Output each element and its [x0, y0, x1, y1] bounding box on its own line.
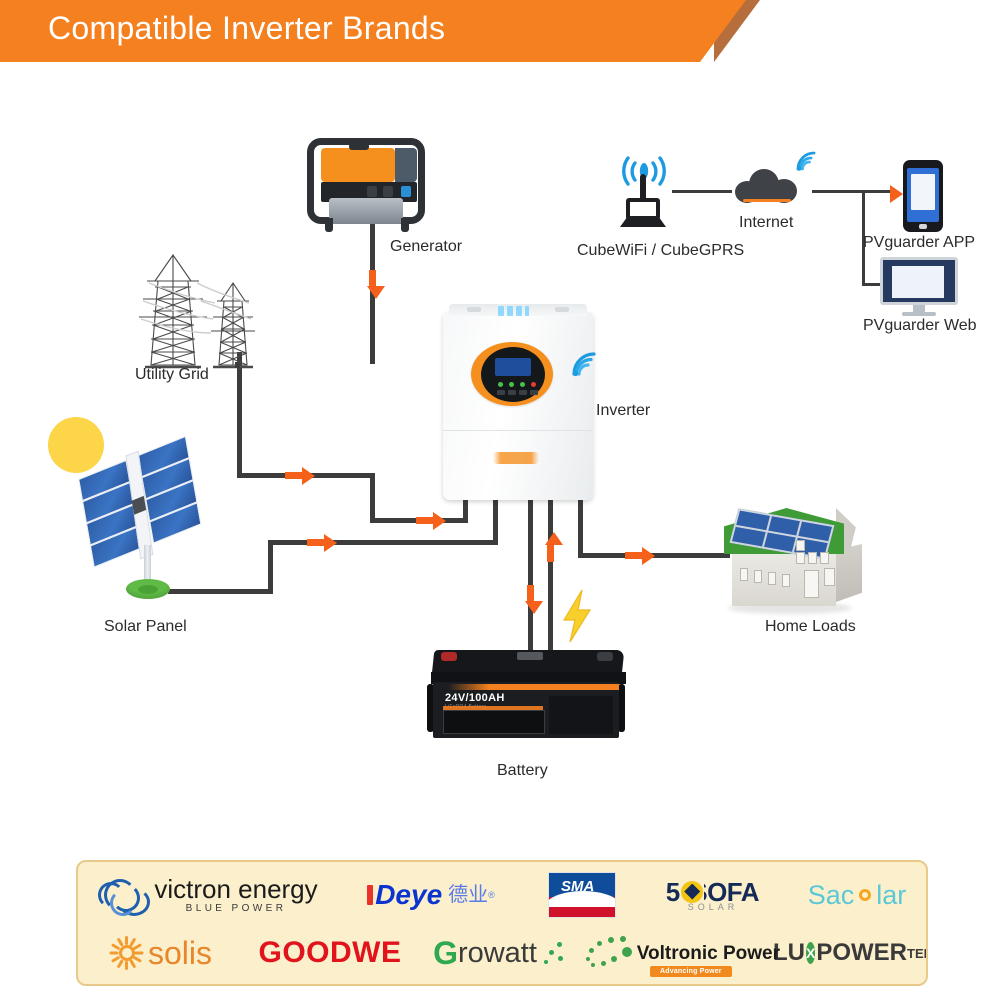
- house-window: [820, 552, 829, 564]
- growatt-dots-icon: [541, 940, 567, 966]
- deye-registered-icon: ®: [488, 891, 495, 900]
- sma-mark-icon: SMA: [548, 872, 616, 918]
- house-window: [782, 574, 790, 587]
- generator-leg-left: [325, 218, 333, 232]
- wire-internet-to-branch: [812, 190, 865, 193]
- battery-terminal-negative: [441, 652, 457, 661]
- victron-mark-icon: [96, 878, 148, 912]
- generator-illustration: [305, 130, 430, 235]
- inverter-button[interactable]: [497, 390, 505, 395]
- home-loads-illustration: [718, 502, 868, 617]
- brand-logo-goodwe: GOODWE: [244, 928, 416, 978]
- luxpower-wordmark-part2: POWER: [816, 941, 907, 965]
- sacolar-wordmark-part2: lar: [876, 882, 906, 909]
- inverter-lcd: [495, 358, 531, 376]
- generator-socket-blue: [401, 186, 411, 197]
- lightning-bolt-icon: [560, 590, 594, 642]
- sacolar-wordmark-part1: Sac: [808, 882, 855, 909]
- brand-logo-sacolar: Sac lar: [788, 870, 926, 920]
- inverter-mount-tab-left: [467, 307, 481, 312]
- wire-inverter-to-battery-b: [548, 500, 553, 660]
- battery-terminal-positive: [597, 652, 613, 661]
- label-pvguarder-web: PVguarder Web: [863, 317, 977, 335]
- voltronic-dots-icon: [584, 936, 633, 970]
- sma-wordmark: SMA: [561, 878, 594, 895]
- arrow-grid-stem: [285, 472, 303, 479]
- inverter-button[interactable]: [519, 390, 527, 395]
- battery-warning-panel: [549, 696, 613, 734]
- house-window: [796, 552, 805, 564]
- pvguarder-web-illustration: [880, 257, 958, 319]
- deye-wordmark-cn: 德业: [448, 885, 488, 905]
- solis-sun-icon: [110, 936, 144, 970]
- wire-bus-to-inverter: [370, 473, 375, 522]
- victron-tagline: BLUE POWER: [154, 904, 317, 914]
- inverter-lcd-seg: [525, 306, 529, 316]
- house-window: [808, 552, 817, 564]
- battery-spec-label: 24V/100AH: [445, 692, 505, 704]
- brand-logo-growatt: G rowatt: [416, 928, 584, 978]
- generator-cap: [349, 143, 369, 150]
- inverter-led-red: [531, 382, 536, 387]
- solis-wordmark: solis: [148, 937, 212, 969]
- inverter-body: [443, 312, 593, 500]
- brand-row-1: victron energy BLUE POWER Deye 德业 ® SMA …: [78, 870, 926, 920]
- wire-inverter-to-battery-a: [528, 500, 533, 660]
- sacolar-sun-icon: [855, 885, 875, 905]
- arrow-grid-right: [302, 467, 315, 485]
- house-door: [804, 570, 819, 598]
- battery-handle: [517, 652, 543, 660]
- arrow-battery-charge-stem: [527, 585, 534, 602]
- solar-panel-illustration: [48, 417, 218, 597]
- sofar-globe-icon: [681, 881, 703, 903]
- growatt-wordmark: rowatt: [458, 939, 537, 968]
- battery-stripe: [433, 684, 619, 690]
- generator-socket-dark: [383, 186, 393, 197]
- wifi-icon-internet: [795, 150, 819, 172]
- sofar-wordmark-part1: 5: [666, 879, 680, 905]
- house-pv-gridline: [736, 525, 828, 543]
- brand-logo-solis: solis: [78, 928, 244, 978]
- wire-solar-up: [268, 540, 273, 594]
- generator-tank-dark: [395, 148, 417, 182]
- brand-logo-victron: victron energy BLUE POWER: [78, 870, 336, 920]
- header-banner: Compatible Inverter Brands: [0, 0, 760, 62]
- brand-logo-sma: SMA: [526, 870, 638, 920]
- inverter-led-green-2: [509, 382, 514, 387]
- solis-sun-core: [119, 945, 135, 961]
- wire-cubewifi-to-internet: [672, 190, 732, 193]
- inverter-seam: [443, 430, 593, 431]
- phone-app-card: [911, 174, 935, 210]
- battery-illustration: 24V/100AH LiFePO4 Battery: [425, 650, 630, 740]
- label-generator: Generator: [390, 238, 462, 256]
- house-window: [768, 572, 776, 585]
- luxpower-superscript: TEK: [907, 947, 928, 960]
- inverter-mount-tab-right: [555, 307, 569, 312]
- label-home-loads: Home Loads: [765, 618, 856, 636]
- sofar-wordmark: SOFAR: [704, 879, 760, 905]
- brand-logo-deye: Deye 德业 ®: [336, 870, 526, 920]
- house-window: [740, 568, 748, 581]
- brand-logo-voltronic: Voltronic Power Advancing Power: [584, 928, 780, 978]
- arrow-generator-down: [367, 286, 385, 299]
- house-window: [824, 568, 835, 586]
- inverter-brand-mark: [492, 452, 540, 464]
- wifi-icon-inverter: [570, 350, 600, 378]
- goodwe-wordmark: GOODWE: [259, 938, 402, 968]
- battery-info-panel: [443, 710, 545, 734]
- wire-solar-to-inverter: [268, 540, 498, 545]
- arrow-bus-right: [433, 512, 446, 530]
- arrow-battery-discharge: [545, 532, 563, 545]
- inverter-button[interactable]: [530, 390, 538, 395]
- generator-tank: [321, 148, 395, 182]
- growatt-mark-icon: G: [433, 937, 458, 969]
- arrow-home-right: [642, 547, 655, 565]
- label-cube-wifi: CubeWiFi / CubeGPRS: [577, 242, 744, 260]
- label-battery: Battery: [497, 762, 548, 780]
- cubewifi-device-illustration: [612, 154, 676, 234]
- wire-inverter-lead-1: [463, 500, 468, 520]
- victron-wordmark: victron energy: [154, 876, 317, 902]
- pv-base-inner: [138, 585, 158, 594]
- inverter-lcd-seg: [516, 306, 522, 316]
- system-diagram: Generator U: [0, 62, 1000, 852]
- arrow-solar-stem: [307, 539, 325, 546]
- label-internet: Internet: [739, 214, 793, 232]
- pvguarder-app-illustration: [903, 160, 943, 232]
- arrow-bus-stem: [416, 517, 434, 524]
- cubewifi-base: [620, 218, 666, 227]
- sofar-tagline: SOLAR: [688, 903, 739, 912]
- qr-code-icon: [630, 202, 656, 216]
- inverter-led-green-3: [520, 382, 525, 387]
- page-title: Compatible Inverter Brands: [48, 10, 445, 47]
- arrow-battery-discharge-stem: [547, 545, 554, 562]
- label-inverter: Inverter: [596, 402, 650, 420]
- label-pvguarder-app: PVguarder APP: [863, 234, 975, 252]
- generator-leg-right: [401, 218, 409, 232]
- voltronic-wordmark: Voltronic Power: [637, 944, 780, 963]
- compatible-brands-panel: victron energy BLUE POWER Deye 德业 ® SMA …: [76, 860, 928, 986]
- inverter-button[interactable]: [508, 390, 516, 395]
- internet-cloud-illustration: [735, 167, 799, 209]
- label-utility-grid: Utility Grid: [135, 366, 209, 384]
- deye-mark-icon: [367, 885, 373, 905]
- inverter-lcd-seg: [507, 306, 513, 316]
- generator-socket-dark-2: [367, 186, 377, 197]
- wire-grid-riser: [235, 362, 240, 368]
- arrow-home-stem: [625, 552, 643, 559]
- battery-foot-right: [618, 684, 625, 732]
- arrow-to-app: [890, 185, 903, 203]
- brand-logo-sofar: 5 SOFAR SOLAR: [638, 870, 788, 920]
- arrow-solar-right: [324, 534, 337, 552]
- phone-home-button: [919, 224, 927, 229]
- cloud-accent: [743, 199, 791, 202]
- inverter-illustration: [443, 302, 593, 500]
- house-window: [796, 540, 805, 551]
- generator-engine: [329, 198, 403, 224]
- brand-row-2: solis GOODWE G rowatt: [78, 928, 926, 978]
- ribbon-tail: [700, 0, 746, 62]
- wire-inverter-to-home-v: [578, 500, 583, 557]
- arrow-battery-charge: [525, 601, 543, 614]
- monitor-web-window: [892, 266, 944, 298]
- luxpower-x-icon: X: [806, 942, 815, 964]
- label-solar-panel: Solar Panel: [104, 618, 187, 636]
- wire-branch-to-app: [862, 190, 892, 193]
- arrow-generator-stem: [369, 270, 376, 287]
- house-window: [754, 570, 762, 583]
- monitor-foot: [902, 312, 936, 316]
- wire-inverter-lead-2: [493, 500, 498, 544]
- inverter-led-green: [498, 382, 503, 387]
- inverter-lcd-seg: [498, 306, 504, 316]
- voltronic-tagline: Advancing Power: [650, 966, 732, 977]
- deye-wordmark: Deye: [375, 881, 442, 909]
- brand-logo-luxpower: LU X POWER TEK: [780, 928, 926, 978]
